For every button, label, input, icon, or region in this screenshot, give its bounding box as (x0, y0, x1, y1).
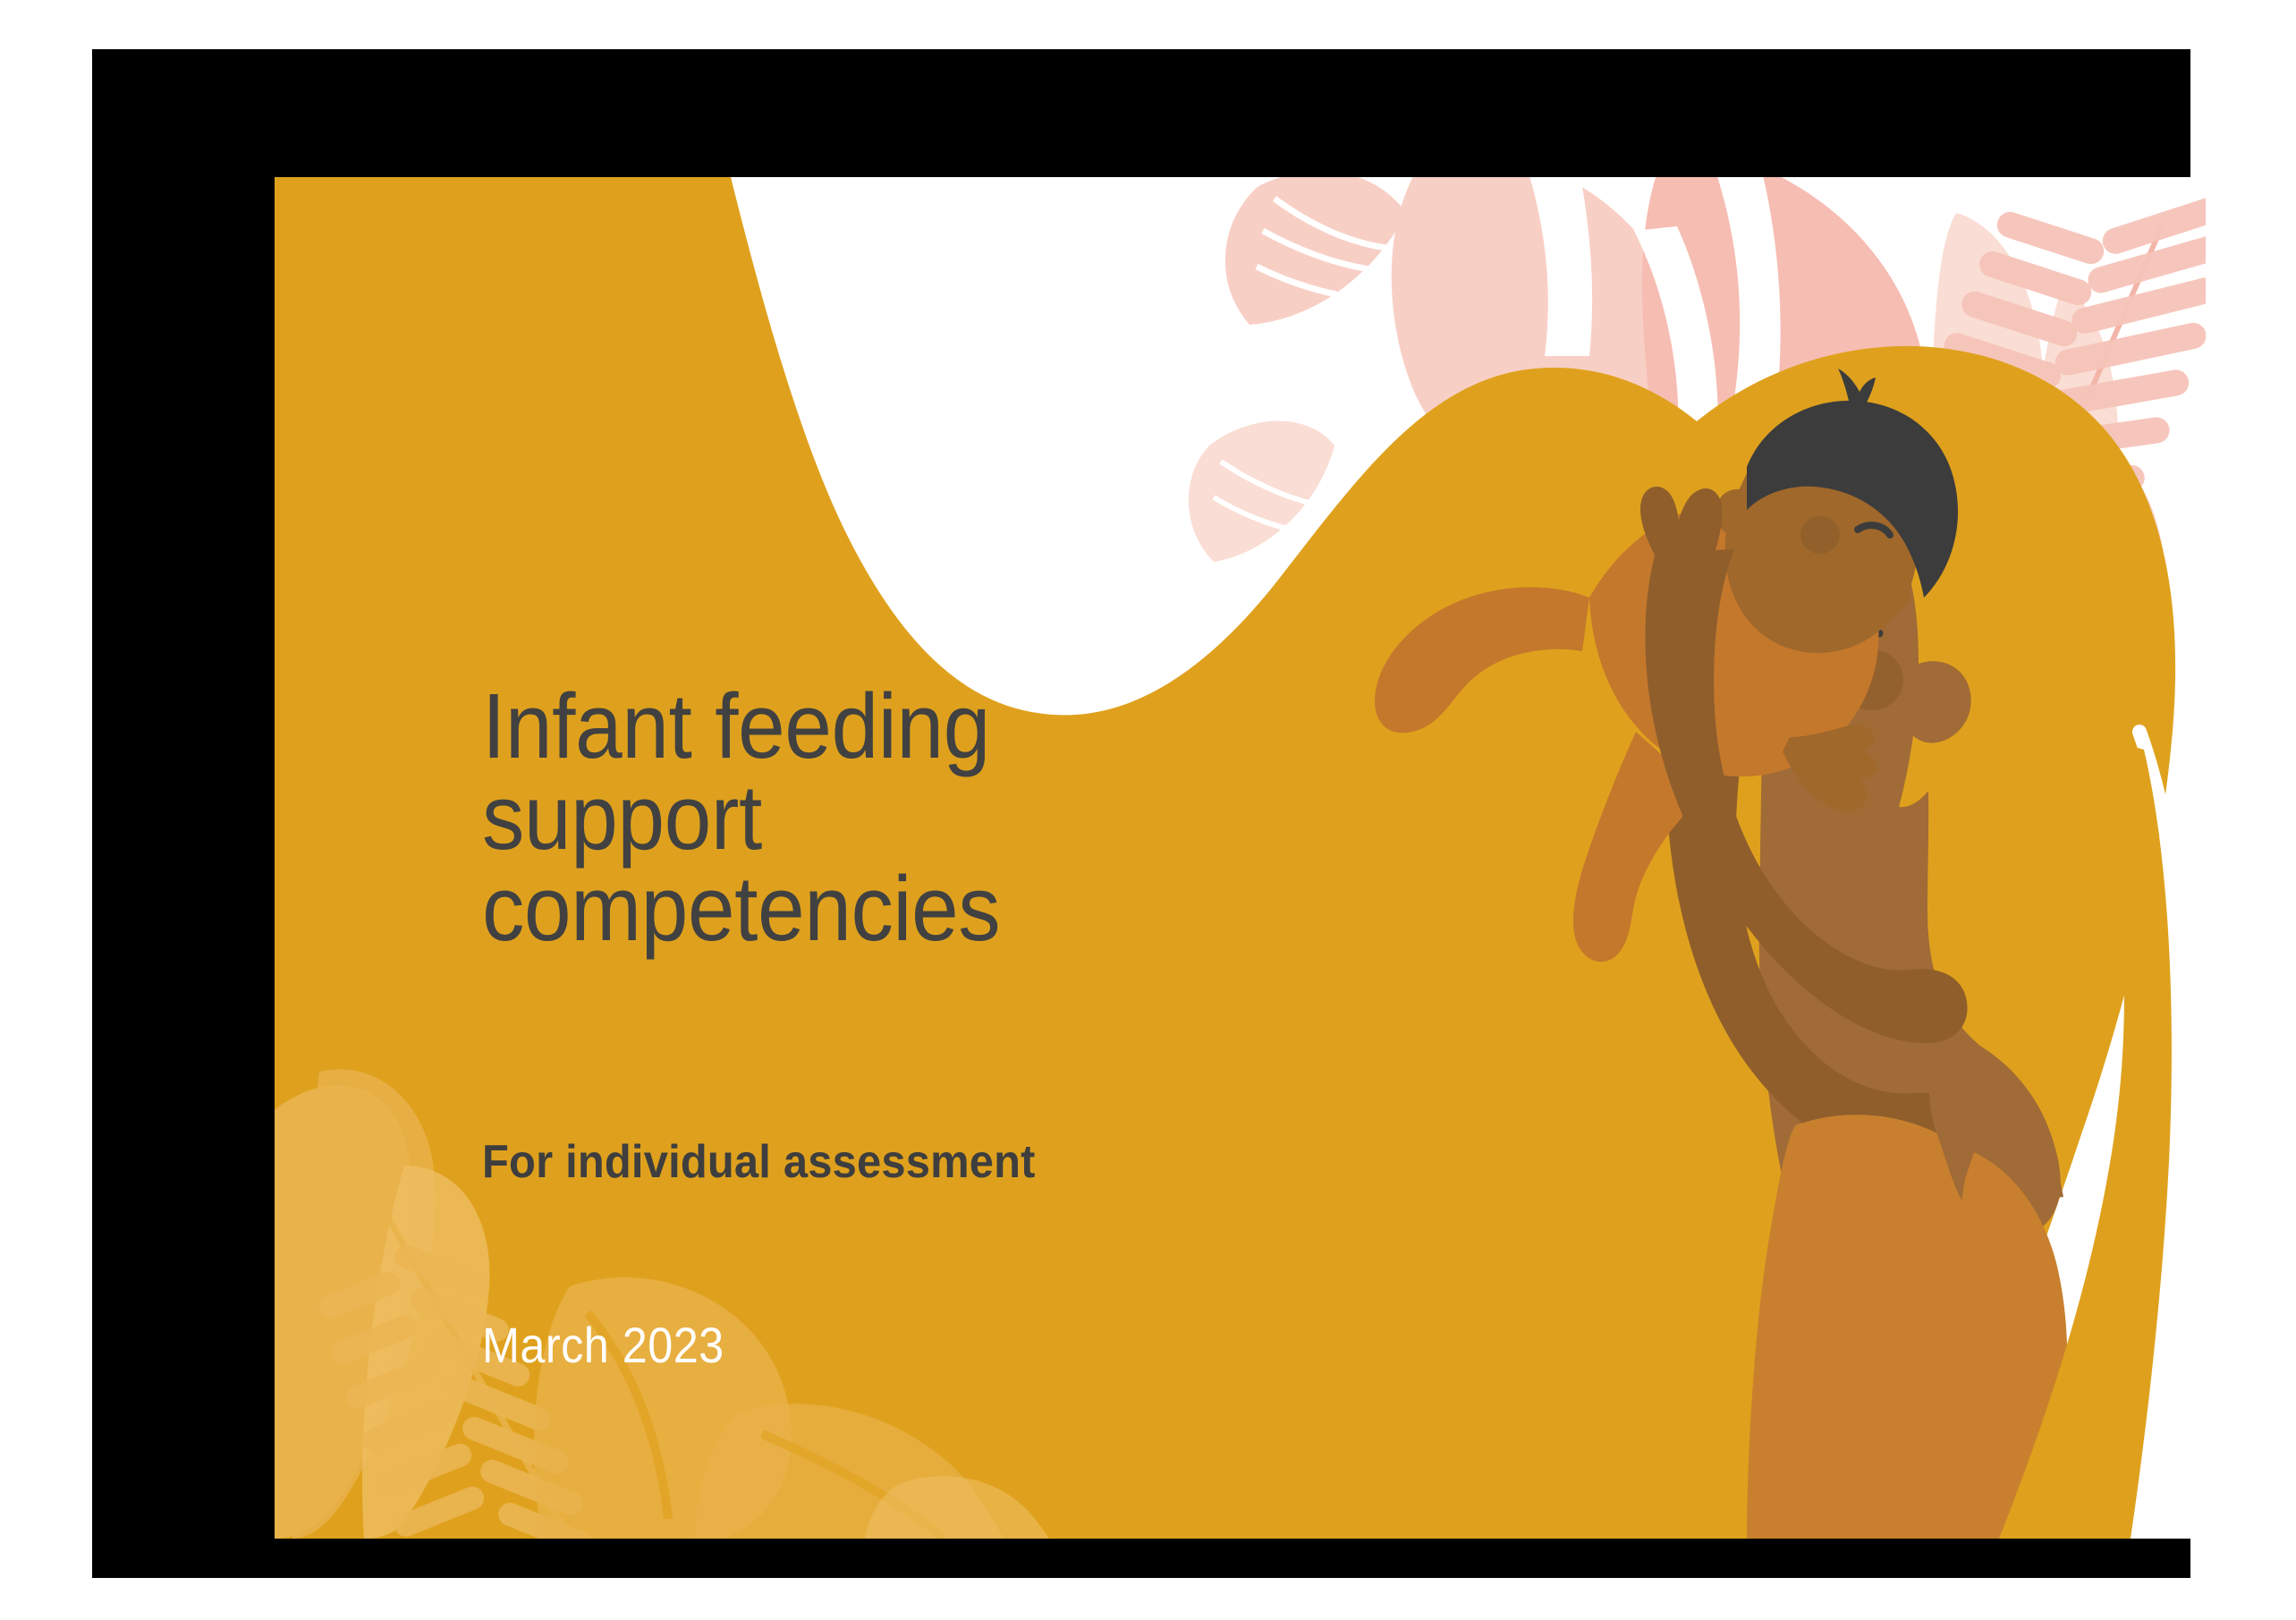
screenshot-stage: Infant feeding support competencies For … (0, 0, 2296, 1620)
mother-lifting-baby-illustration (275, 177, 2206, 1539)
baby-cheek (1800, 516, 1840, 554)
slide-black-frame: Infant feeding support competencies For … (92, 49, 2190, 1578)
title-slide: Infant feeding support competencies For … (275, 177, 2206, 1539)
